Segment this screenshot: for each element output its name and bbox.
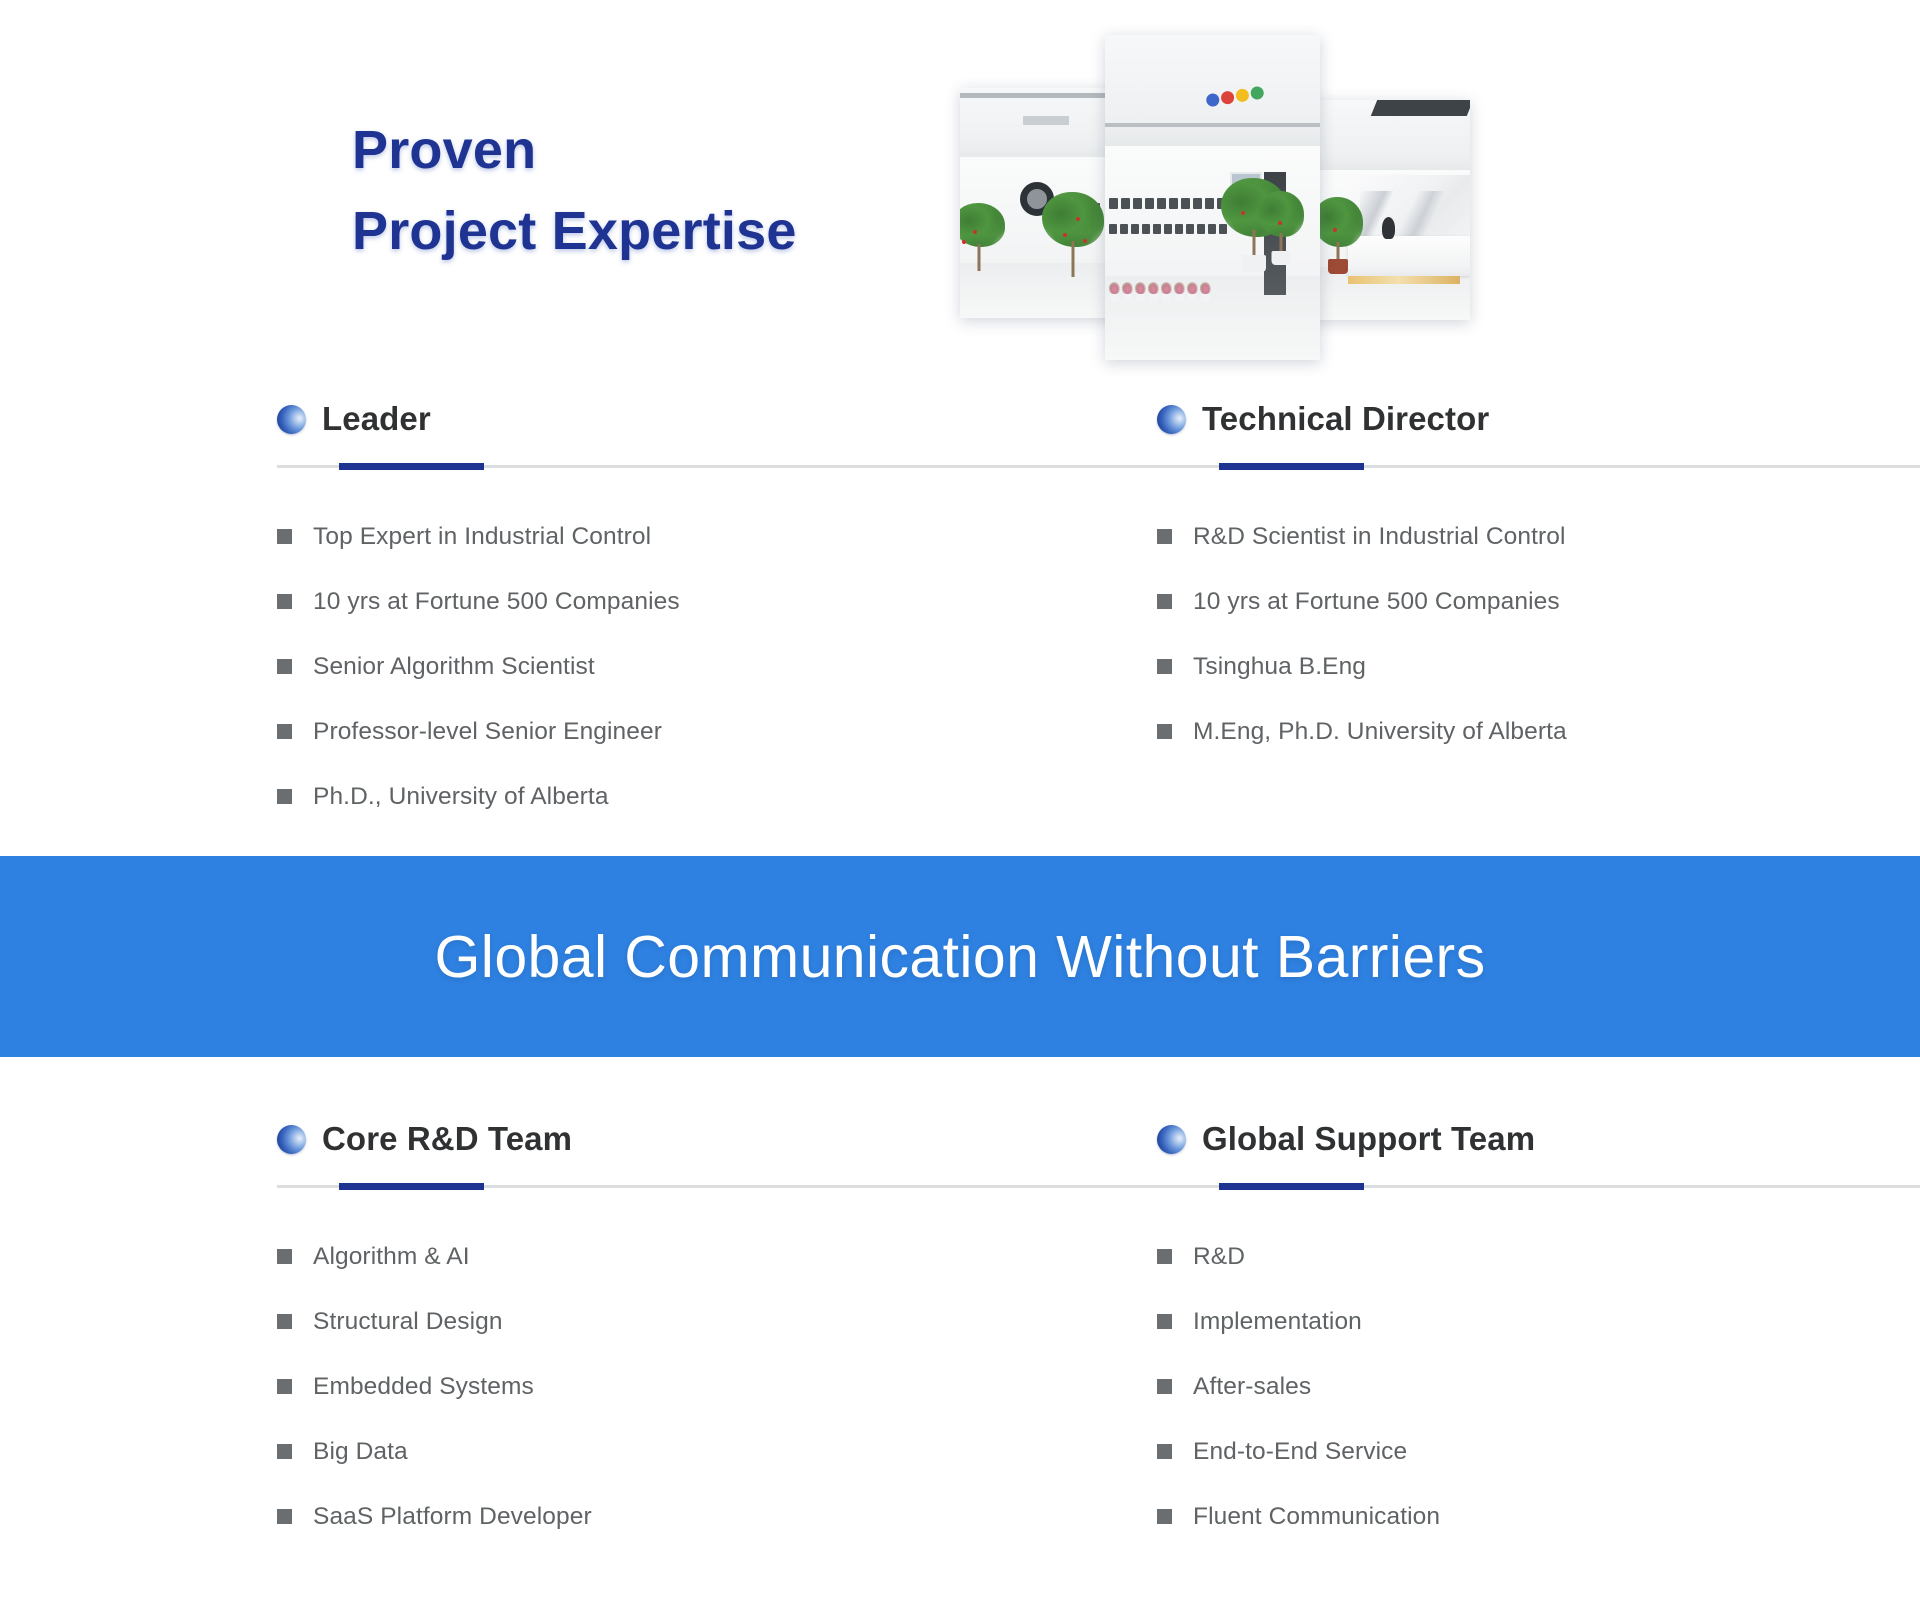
section-header: Technical Director bbox=[1157, 390, 1920, 448]
page-title-line-1: Proven bbox=[352, 120, 536, 180]
section-leader: Leader Top Expert in Industrial Control … bbox=[277, 390, 1137, 829]
square-bullet-icon bbox=[277, 724, 292, 739]
list-item: SaaS Platform Developer bbox=[277, 1484, 1137, 1549]
section-title: Global Support Team bbox=[1202, 1120, 1535, 1158]
list-item-label: Ph.D., University of Alberta bbox=[313, 783, 609, 811]
list-item: Professor-level Senior Engineer bbox=[277, 699, 1137, 764]
list-item: Embedded Systems bbox=[277, 1354, 1137, 1419]
square-bullet-icon bbox=[277, 1509, 292, 1524]
photo-light-strip bbox=[1348, 276, 1460, 284]
list-item: Ph.D., University of Alberta bbox=[277, 764, 1137, 829]
page-title: Proven Project Expertise bbox=[352, 110, 797, 272]
square-bullet-icon bbox=[277, 529, 292, 544]
divider-accent-bar bbox=[1219, 1183, 1364, 1190]
list-item: Tsinghua B.Eng bbox=[1157, 634, 1920, 699]
section-divider bbox=[1157, 1183, 1920, 1190]
office-reception-signage-photo bbox=[1105, 35, 1320, 360]
section-header: Core R&D Team bbox=[277, 1110, 1137, 1168]
section-title: Core R&D Team bbox=[322, 1120, 572, 1158]
list-item: Senior Algorithm Scientist bbox=[277, 634, 1137, 699]
list-item: Algorithm & AI bbox=[277, 1224, 1137, 1289]
section-header: Leader bbox=[277, 390, 1137, 448]
sphere-bullet-icon bbox=[1157, 405, 1186, 434]
list-item: Structural Design bbox=[277, 1289, 1137, 1354]
square-bullet-icon bbox=[277, 1379, 292, 1394]
square-bullet-icon bbox=[1157, 659, 1172, 674]
section-title: Leader bbox=[322, 400, 431, 438]
credentials-columns: Leader Top Expert in Industrial Control … bbox=[0, 390, 1920, 829]
square-bullet-icon bbox=[1157, 724, 1172, 739]
square-bullet-icon bbox=[277, 1249, 292, 1264]
divider-accent-bar bbox=[1219, 463, 1364, 470]
list-item-label: Algorithm & AI bbox=[313, 1243, 470, 1271]
sphere-bullet-icon bbox=[277, 1125, 306, 1154]
square-bullet-icon bbox=[1157, 1314, 1172, 1329]
list-item: Big Data bbox=[277, 1419, 1137, 1484]
section-title: Technical Director bbox=[1202, 400, 1489, 438]
square-bullet-icon bbox=[277, 1314, 292, 1329]
banner-title: Global Communication Without Barriers bbox=[435, 923, 1486, 991]
photo-plant-left bbox=[960, 203, 1005, 271]
presentation-slide: Proven Project Expertise bbox=[0, 0, 1920, 1600]
section-technical-director: Technical Director R&D Scientist in Indu… bbox=[1157, 390, 1920, 829]
square-bullet-icon bbox=[1157, 1444, 1172, 1459]
list-item: 10 yrs at Fortune 500 Companies bbox=[277, 569, 1137, 634]
list-item-label: Tsinghua B.Eng bbox=[1193, 653, 1366, 681]
sphere-bullet-icon bbox=[1157, 1125, 1186, 1154]
section-global-support-team: Global Support Team R&D Implementation A… bbox=[1157, 1110, 1920, 1549]
section-divider bbox=[1157, 463, 1920, 470]
photo-reception-desk bbox=[1348, 236, 1470, 276]
photo-ceiling-vent bbox=[1023, 116, 1069, 125]
square-bullet-icon bbox=[1157, 1249, 1172, 1264]
section-item-list: Algorithm & AI Structural Design Embedde… bbox=[277, 1224, 1137, 1549]
list-item: Fluent Communication bbox=[1157, 1484, 1920, 1549]
list-item: M.Eng, Ph.D. University of Alberta bbox=[1157, 699, 1920, 764]
teams-columns: Core R&D Team Algorithm & AI Structural … bbox=[0, 1110, 1920, 1549]
global-communication-banner: Global Communication Without Barriers bbox=[0, 856, 1920, 1057]
list-item: Top Expert in Industrial Control bbox=[277, 504, 1137, 569]
square-bullet-icon bbox=[1157, 594, 1172, 609]
photo-signage-line-2 bbox=[1109, 224, 1227, 234]
list-item-label: SaaS Platform Developer bbox=[313, 1503, 592, 1531]
office-front-desk-photo bbox=[1310, 100, 1470, 320]
square-bullet-icon bbox=[277, 789, 292, 804]
list-item: R&D bbox=[1157, 1224, 1920, 1289]
list-item: Implementation bbox=[1157, 1289, 1920, 1354]
list-item-label: R&D bbox=[1193, 1243, 1245, 1271]
list-item-label: Top Expert in Industrial Control bbox=[313, 523, 651, 551]
list-item-label: Structural Design bbox=[313, 1308, 503, 1336]
divider-accent-bar bbox=[339, 463, 484, 470]
square-bullet-icon bbox=[277, 1444, 292, 1459]
photo-person bbox=[1382, 217, 1395, 239]
photo-ceiling-edge bbox=[1105, 123, 1320, 127]
list-item: After-sales bbox=[1157, 1354, 1920, 1419]
divider-accent-bar bbox=[339, 1183, 484, 1190]
list-item-label: Fluent Communication bbox=[1193, 1503, 1440, 1531]
photo-ceiling-beam bbox=[1371, 100, 1470, 116]
section-item-list: Top Expert in Industrial Control 10 yrs … bbox=[277, 504, 1137, 829]
list-item-label: 10 yrs at Fortune 500 Companies bbox=[313, 588, 680, 616]
section-item-list: R&D Scientist in Industrial Control 10 y… bbox=[1157, 504, 1920, 764]
list-item-label: Big Data bbox=[313, 1438, 408, 1466]
office-photo-collage bbox=[955, 30, 1515, 370]
photo-plant-center bbox=[1042, 192, 1104, 278]
list-item-label: End-to-End Service bbox=[1193, 1438, 1407, 1466]
section-core-rd-team: Core R&D Team Algorithm & AI Structural … bbox=[277, 1110, 1137, 1549]
photo-plant bbox=[1313, 197, 1363, 275]
square-bullet-icon bbox=[277, 594, 292, 609]
square-bullet-icon bbox=[1157, 1509, 1172, 1524]
square-bullet-icon bbox=[1157, 529, 1172, 544]
list-item: End-to-End Service bbox=[1157, 1419, 1920, 1484]
square-bullet-icon bbox=[1157, 1379, 1172, 1394]
photo-potted-plant-row bbox=[1109, 282, 1211, 302]
list-item-label: M.Eng, Ph.D. University of Alberta bbox=[1193, 718, 1567, 746]
list-item-label: Professor-level Senior Engineer bbox=[313, 718, 662, 746]
list-item-label: Implementation bbox=[1193, 1308, 1362, 1336]
list-item: R&D Scientist in Industrial Control bbox=[1157, 504, 1920, 569]
sphere-bullet-icon bbox=[277, 405, 306, 434]
square-bullet-icon bbox=[277, 659, 292, 674]
photo-plant-far-right bbox=[1258, 191, 1304, 263]
list-item-label: After-sales bbox=[1193, 1373, 1311, 1401]
section-item-list: R&D Implementation After-sales End-to-En… bbox=[1157, 1224, 1920, 1549]
list-item-label: Embedded Systems bbox=[313, 1373, 534, 1401]
list-item: 10 yrs at Fortune 500 Companies bbox=[1157, 569, 1920, 634]
section-header: Global Support Team bbox=[1157, 1110, 1920, 1168]
list-item-label: R&D Scientist in Industrial Control bbox=[1193, 523, 1566, 551]
hero-section: Proven Project Expertise bbox=[0, 0, 1920, 856]
page-title-line-2: Project Expertise bbox=[352, 191, 797, 272]
list-item-label: 10 yrs at Fortune 500 Companies bbox=[1193, 588, 1560, 616]
list-item-label: Senior Algorithm Scientist bbox=[313, 653, 595, 681]
